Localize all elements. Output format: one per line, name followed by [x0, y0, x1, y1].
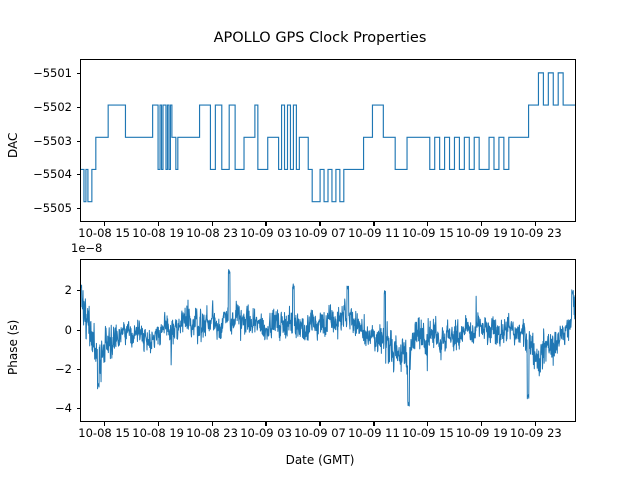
dac-ytick-mark: [77, 208, 81, 209]
phase-ytick-label: −4: [10, 401, 72, 415]
xtick-label: 10-09 19: [456, 426, 508, 440]
xtick-label: 10-08 19: [132, 226, 184, 240]
dac-line-plot: [81, 60, 575, 221]
dac-ytick-label: −5501: [10, 66, 72, 80]
xtick-label: 10-08 23: [186, 426, 238, 440]
phase-ytick-label: 2: [10, 283, 72, 297]
dac-ytick-label: −5505: [10, 201, 72, 215]
dac-ytick-mark: [77, 141, 81, 142]
phase-y-offset-text: 1e−8: [71, 241, 102, 255]
xtick-label: 10-09 11: [348, 226, 400, 240]
phase-axis-label: Phase (s): [6, 320, 20, 375]
xtick-label: 10-09 07: [294, 226, 346, 240]
xtick-label: 10-08 23: [186, 226, 238, 240]
xtick-mark: [212, 222, 213, 226]
phase-ytick-mark: [77, 290, 81, 291]
dac-axes: [80, 59, 576, 222]
xtick-label: 10-08 19: [132, 426, 184, 440]
xtick-label: 10-09 15: [402, 426, 454, 440]
xtick-label: 10-09 07: [294, 426, 346, 440]
xtick-label: 10-08 15: [78, 226, 130, 240]
xtick-mark: [535, 222, 536, 226]
xtick-mark: [319, 422, 320, 426]
dac-ytick-label: −5504: [10, 167, 72, 181]
figure-title: APOLLO GPS Clock Properties: [0, 30, 640, 46]
phase-ytick-mark: [77, 369, 81, 370]
xtick-mark: [158, 222, 159, 226]
xtick-mark: [427, 222, 428, 226]
phase-ytick-mark: [77, 408, 81, 409]
dac-axis-label: DAC: [6, 133, 20, 158]
xtick-label: 10-09 23: [510, 226, 562, 240]
dac-ytick-mark: [77, 174, 81, 175]
xtick-label: 10-09 19: [456, 226, 508, 240]
xtick-mark: [104, 422, 105, 426]
xtick-mark: [265, 422, 266, 426]
xtick-mark: [481, 222, 482, 226]
xtick-mark: [373, 222, 374, 226]
xtick-label: 10-09 15: [402, 226, 454, 240]
phase-noise-line: [81, 270, 575, 406]
dac-ytick-mark: [77, 107, 81, 108]
xtick-mark: [158, 422, 159, 426]
xtick-mark: [373, 422, 374, 426]
xtick-mark: [212, 422, 213, 426]
xtick-label: 10-09 03: [240, 226, 292, 240]
xtick-label: 10-09 11: [348, 426, 400, 440]
phase-axes: [80, 259, 576, 422]
matplotlib-figure: APOLLO GPS Clock Properties −5501 −5502 …: [0, 0, 640, 480]
xtick-label: 10-09 23: [510, 426, 562, 440]
phase-ytick-mark: [77, 330, 81, 331]
phase-line-plot: [81, 260, 575, 421]
xtick-mark: [535, 422, 536, 426]
xtick-label: 10-09 03: [240, 426, 292, 440]
xtick-mark: [265, 222, 266, 226]
xtick-mark: [427, 422, 428, 426]
dac-step-line: [81, 73, 575, 202]
xtick-mark: [104, 222, 105, 226]
dac-ytick-label: −5502: [10, 100, 72, 114]
dac-ytick-mark: [77, 73, 81, 74]
xtick-label: 10-08 15: [78, 426, 130, 440]
xtick-mark: [481, 422, 482, 426]
x-axis-label: Date (GMT): [0, 453, 640, 467]
xtick-mark: [319, 222, 320, 226]
